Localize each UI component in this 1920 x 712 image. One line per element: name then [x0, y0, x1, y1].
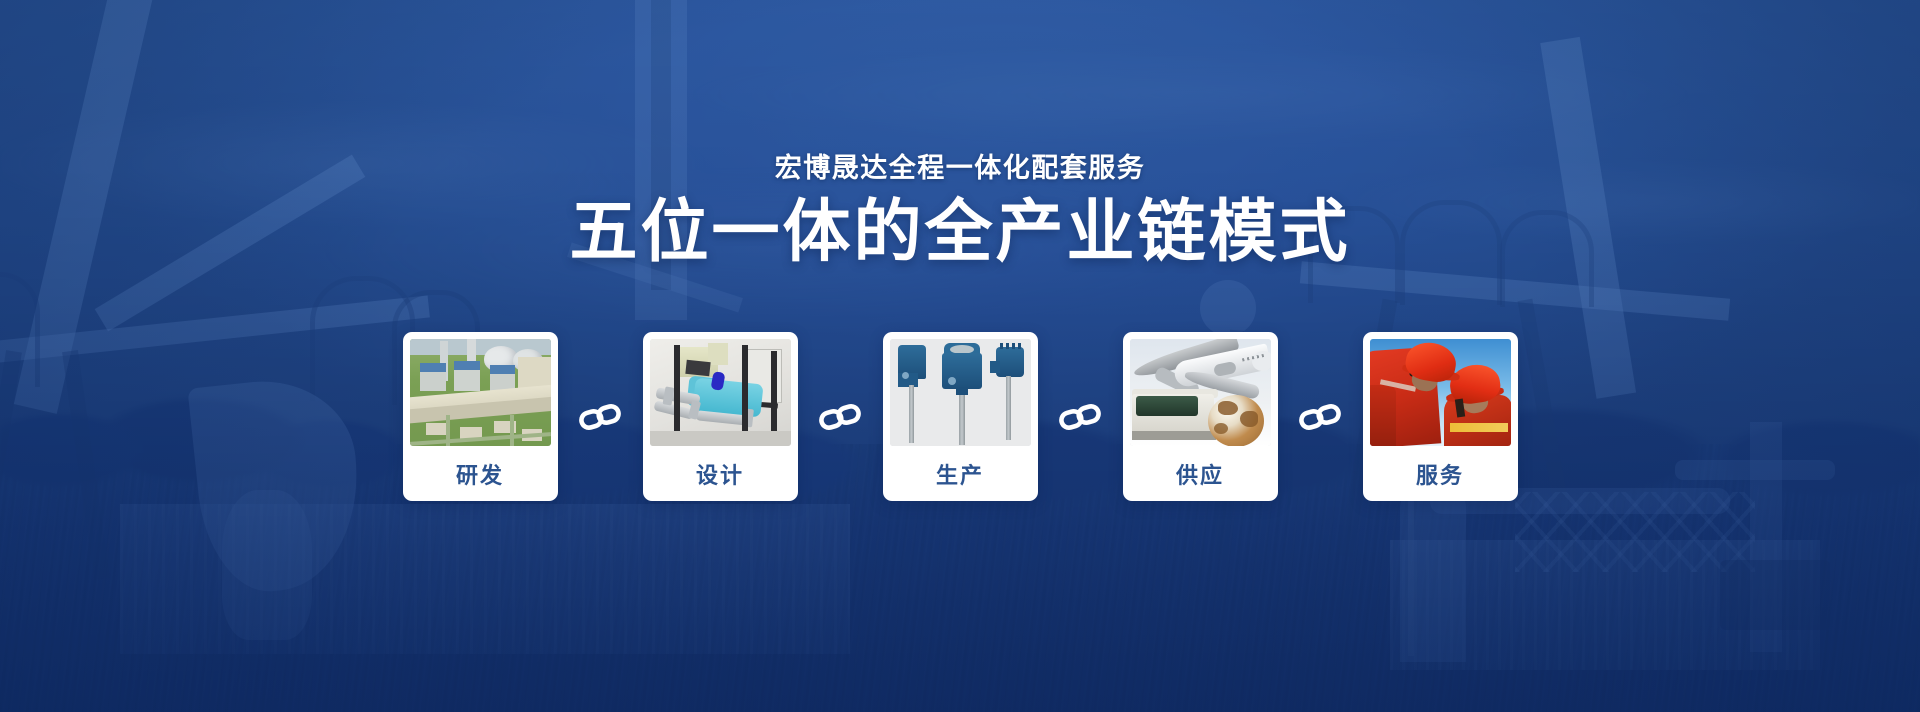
chain-card-service[interactable]: 服务: [1363, 332, 1518, 501]
chain-link-icon-2-wrap: [798, 332, 883, 501]
banner-subtitle: 宏博晟达全程一体化配套服务: [0, 146, 1920, 185]
chain-card-design-label: 设计: [696, 446, 744, 501]
chain-link-icon-4-wrap: [1278, 332, 1363, 501]
chain-link-icon: [818, 404, 862, 430]
chain-card-production-thumbnail: [890, 339, 1031, 446]
chain-link-icon: [1298, 404, 1342, 430]
chain-card-service-label: 服务: [1416, 446, 1464, 501]
chain-link-icon: [1058, 404, 1102, 430]
chain-link-icon-3-wrap: [1038, 332, 1123, 501]
chain-card-production[interactable]: 生产: [883, 332, 1038, 501]
chain-card-design[interactable]: 设计: [643, 332, 798, 501]
chain-card-supply-label: 供应: [1176, 446, 1224, 501]
chain-link-icon-1-wrap: [558, 332, 643, 501]
chain-card-service-thumbnail: [1370, 339, 1511, 446]
banner-content: 宏博晟达全程一体化配套服务 五位一体的全产业链模式: [0, 0, 1920, 712]
chain-card-production-label: 生产: [936, 446, 984, 501]
banner-title: 五位一体的全产业链模式: [0, 196, 1920, 269]
chain-card-supply-thumbnail: [1130, 339, 1271, 446]
chain-card-design-thumbnail: [650, 339, 791, 446]
chain-card-supply[interactable]: 供应: [1123, 332, 1278, 501]
chain-card-rnd-thumbnail: [410, 339, 551, 446]
value-chain-strip: 研发: [0, 332, 1920, 501]
chain-card-rnd[interactable]: 研发: [403, 332, 558, 501]
chain-card-rnd-label: 研发: [456, 446, 504, 501]
chain-link-icon: [578, 404, 622, 430]
hero-banner: 宏博晟达全程一体化配套服务 五位一体的全产业链模式: [0, 0, 1920, 712]
